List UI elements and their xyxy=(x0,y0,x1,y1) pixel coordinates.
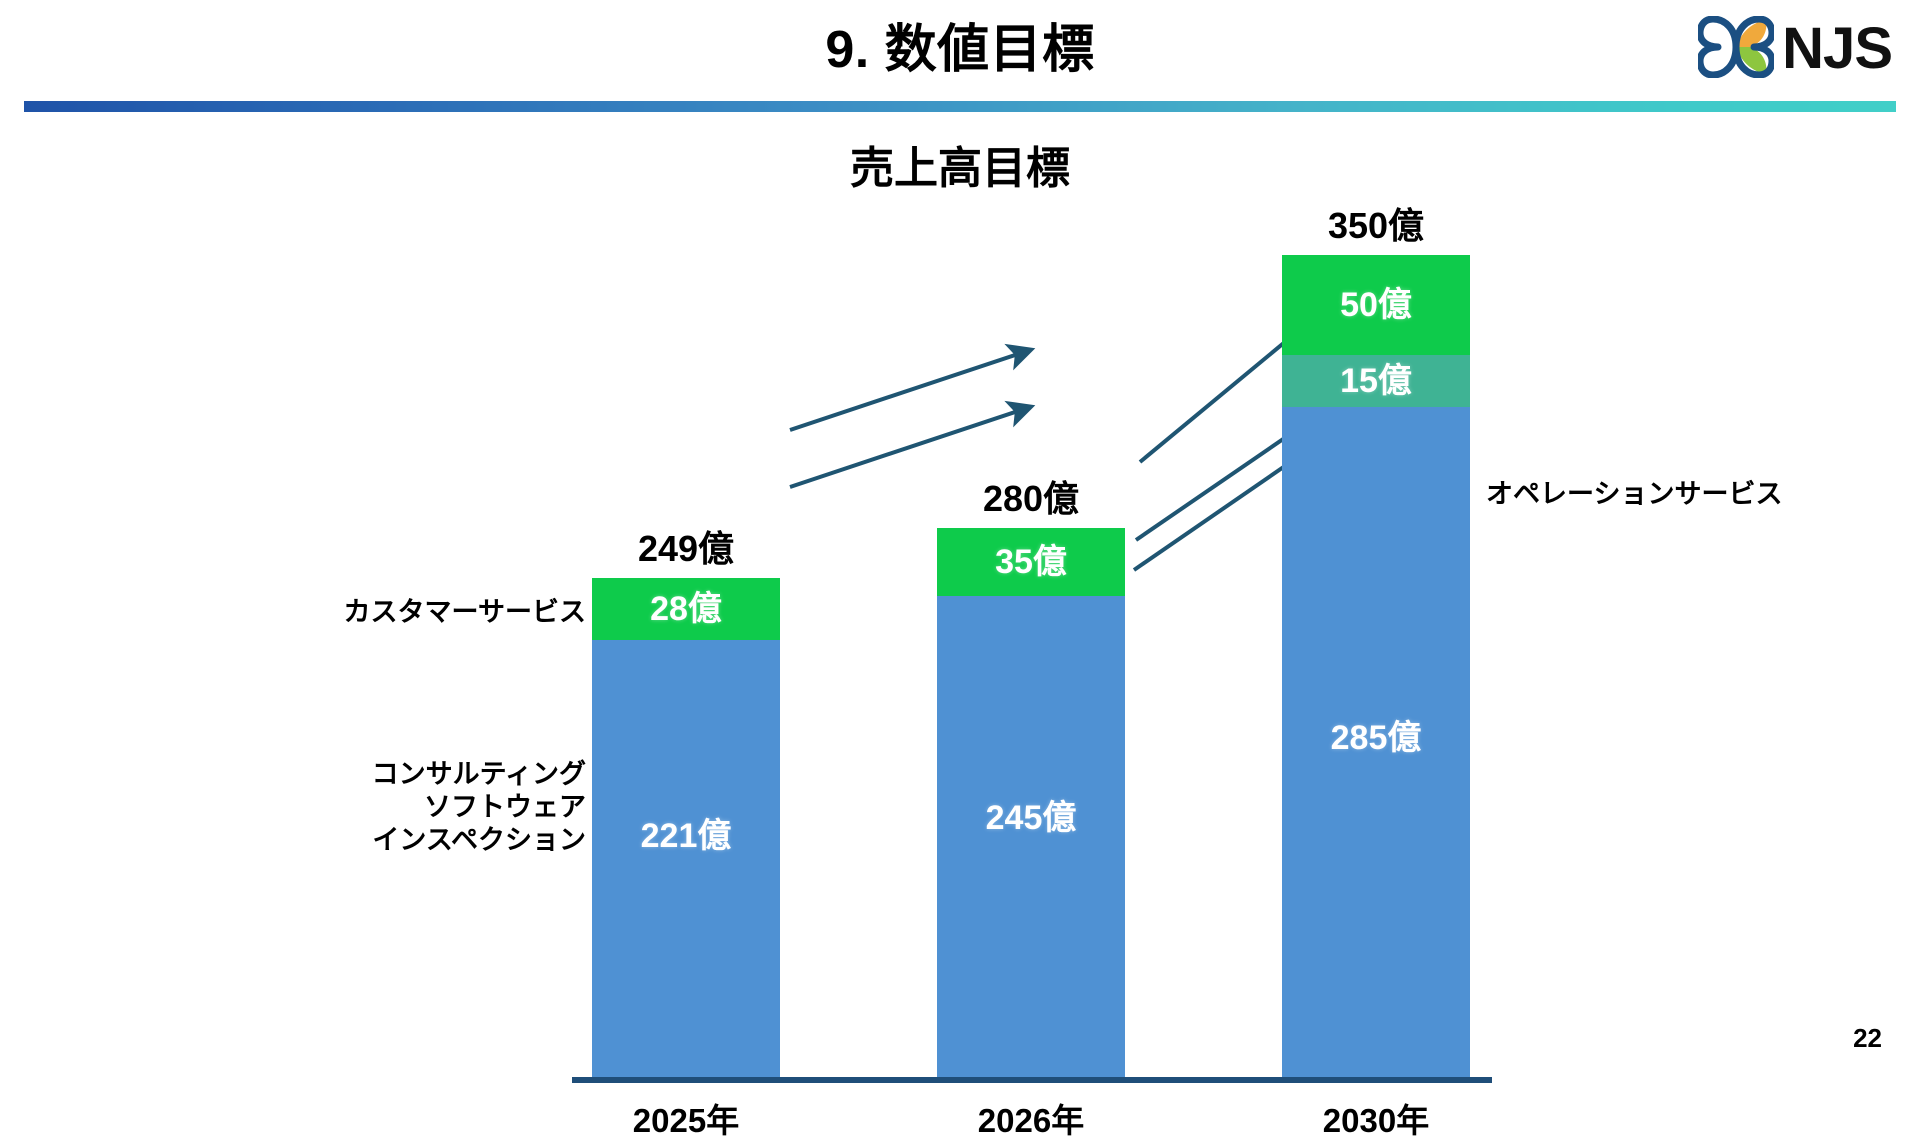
x-axis-line xyxy=(572,1077,1492,1083)
njs-leaf-icon xyxy=(1698,16,1774,83)
bar-segment-label: 28億 xyxy=(650,592,722,626)
page-title: 9. 数値目標 xyxy=(0,22,1920,79)
bar-segment-label: 285億 xyxy=(1331,721,1422,755)
bar-total-2025: 249億 xyxy=(532,520,840,572)
bar-segment-label: 221億 xyxy=(641,819,732,853)
chart-plot: 249億 28億 221億 2025年 280億 35億 245億 2026年 … xyxy=(0,110,1920,1070)
category-label-2025: 2025年 xyxy=(532,1094,840,1142)
category-label-2030: 2030年 xyxy=(1222,1094,1530,1142)
bar-group-2030[interactable]: 350億 50億 15億 285億 2030年 xyxy=(1282,255,1470,1077)
bar-segment-2030-customer[interactable]: 50億 xyxy=(1282,255,1470,355)
njs-wordmark: NJS xyxy=(1782,20,1892,78)
arrow-2025-to-2026-top xyxy=(790,350,1030,430)
bar-segment-label: 35億 xyxy=(995,545,1067,579)
bar-segment-2025-consulting[interactable]: 221億 xyxy=(592,640,780,1077)
bar-segment-label: 50億 xyxy=(1340,288,1412,322)
bar-segment-label: 15億 xyxy=(1340,364,1412,398)
bar-group-2025[interactable]: 249億 28億 221億 2025年 xyxy=(592,578,780,1077)
bar-segment-2026-customer[interactable]: 35億 xyxy=(937,528,1125,596)
bar-segment-2030-operation[interactable]: 15億 xyxy=(1282,355,1470,407)
category-label-2026: 2026年 xyxy=(877,1094,1185,1142)
bar-group-2026[interactable]: 280億 35億 245億 2026年 xyxy=(937,528,1125,1077)
slide-header: 9. 数値目標 NJS xyxy=(0,0,1920,110)
bar-segment-2030-consulting[interactable]: 285億 xyxy=(1282,407,1470,1077)
page-number: 22 xyxy=(1853,1023,1882,1054)
bar-total-2026: 280億 xyxy=(877,470,1185,522)
sales-target-chart: 売上高目標 249億 28億 221億 xyxy=(0,110,1920,1070)
annotation-operation-service: オペレーションサービス xyxy=(1486,478,1782,511)
bar-total-2030: 350億 xyxy=(1222,197,1530,249)
annotation-customer-service: カスタマーサービス xyxy=(344,596,586,629)
bar-segment-label: 245億 xyxy=(986,801,1077,835)
bar-segment-2025-customer[interactable]: 28億 xyxy=(592,578,780,640)
njs-logo: NJS xyxy=(1698,14,1892,84)
annotation-consulting-software-inspection: コンサルティング ソフトウェア インスペクション xyxy=(372,758,586,857)
bar-segment-2026-consulting[interactable]: 245億 xyxy=(937,596,1125,1077)
